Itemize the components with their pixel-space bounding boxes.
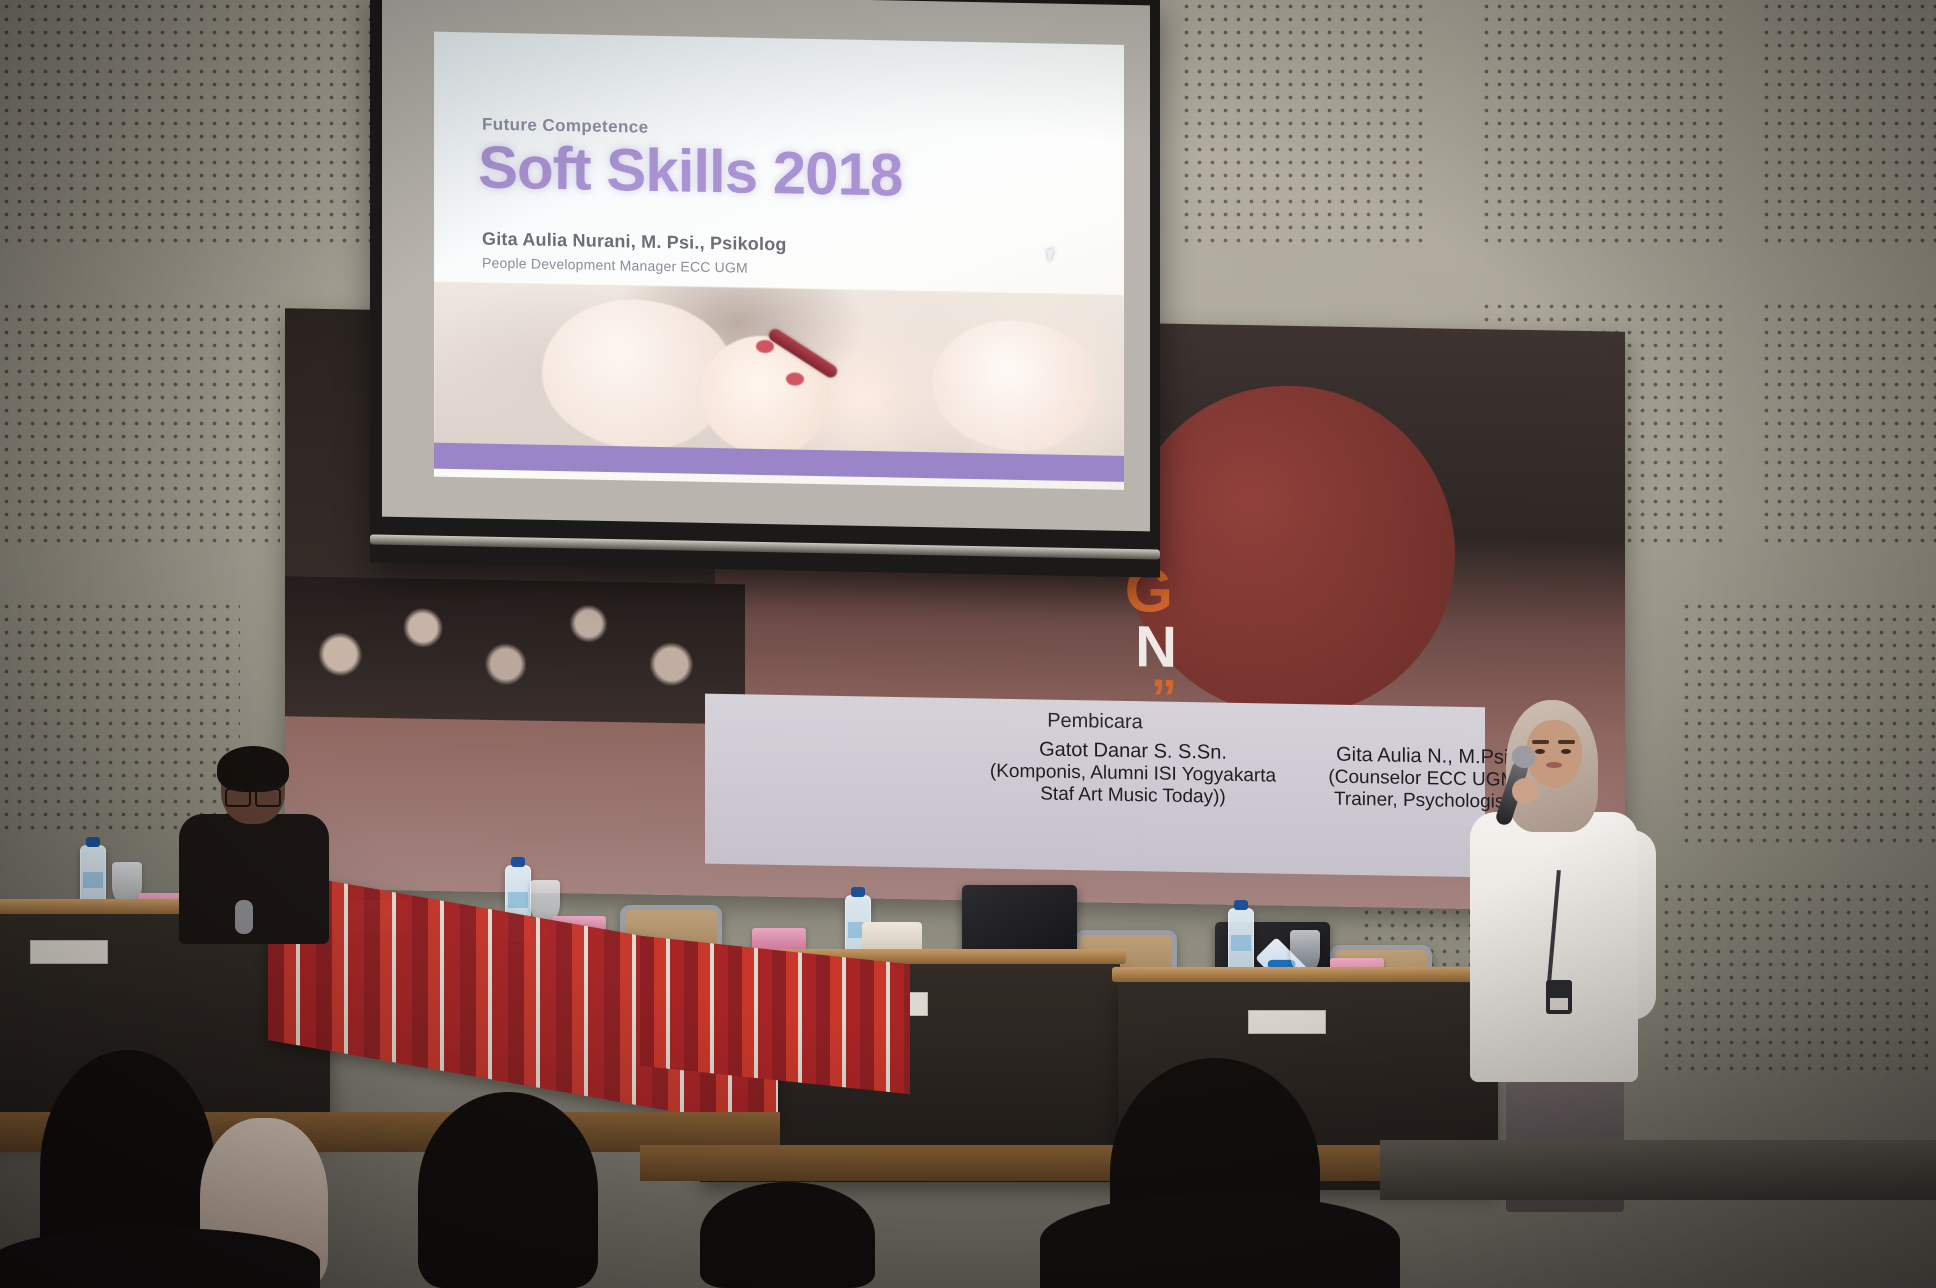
slide-title: Soft Skills 2018: [478, 137, 902, 205]
audience-shoulder: [1040, 1195, 1400, 1288]
handheld-microphone: [235, 900, 253, 934]
audience-member: [418, 1092, 598, 1288]
photo-nail: [756, 340, 774, 353]
speaker-eye: [1535, 749, 1545, 754]
table-label: [30, 940, 108, 964]
screen-bottom-bar: [370, 534, 1160, 559]
speaker-brow: [1532, 740, 1549, 744]
banner-speakers-heading: Pembicara: [705, 704, 1485, 741]
speaker-hand: [1512, 778, 1538, 804]
moderator-body: [179, 814, 329, 944]
id-badge: [1546, 980, 1572, 1014]
slide-role: People Development Manager ECC UGM: [482, 255, 748, 276]
banner-photo-strip: [285, 576, 745, 724]
audience-member: [700, 1182, 875, 1288]
speaker-eye: [1561, 749, 1571, 754]
photo-scene: E ISI Pameran Seni Rupa Yogyakarta G N ”…: [0, 0, 1936, 1288]
banner-speaker-1: Gatot Danar S. S.Sn. (Komponis, Alumni I…: [983, 736, 1283, 810]
laptop-left[interactable]: [962, 885, 1077, 957]
slide-author: Gita Aulia Nurani, M. Psi., Psikolog: [482, 229, 787, 256]
banner-speaker-1-desc-2: Staf Art Music Today)): [983, 783, 1283, 811]
table-label: [1248, 1010, 1326, 1034]
moderator-glasses: [225, 786, 281, 803]
laptop-lid: [962, 885, 1077, 957]
projection-screen: Future Competence Soft Skills 2018 Gita …: [370, 0, 1160, 578]
slide-photo: [434, 282, 1124, 467]
screen-surface: Future Competence Soft Skills 2018 Gita …: [382, 0, 1150, 531]
photo-hand: [932, 319, 1097, 452]
mouse-pointer-icon: [1047, 249, 1058, 262]
audience-shoulder: [0, 1228, 320, 1288]
speaker-lips: [1546, 762, 1562, 768]
banner-speaker-panel: Pembicara Gatot Danar S. S.Sn. (Komponis…: [705, 694, 1485, 878]
presentation-slide: Future Competence Soft Skills 2018 Gita …: [434, 32, 1124, 490]
speaker-brow: [1558, 740, 1575, 744]
moderator-seated: [195, 752, 355, 952]
stage-floor: [1380, 1140, 1936, 1200]
photo-nail: [786, 372, 804, 385]
table-top: [1112, 967, 1504, 982]
